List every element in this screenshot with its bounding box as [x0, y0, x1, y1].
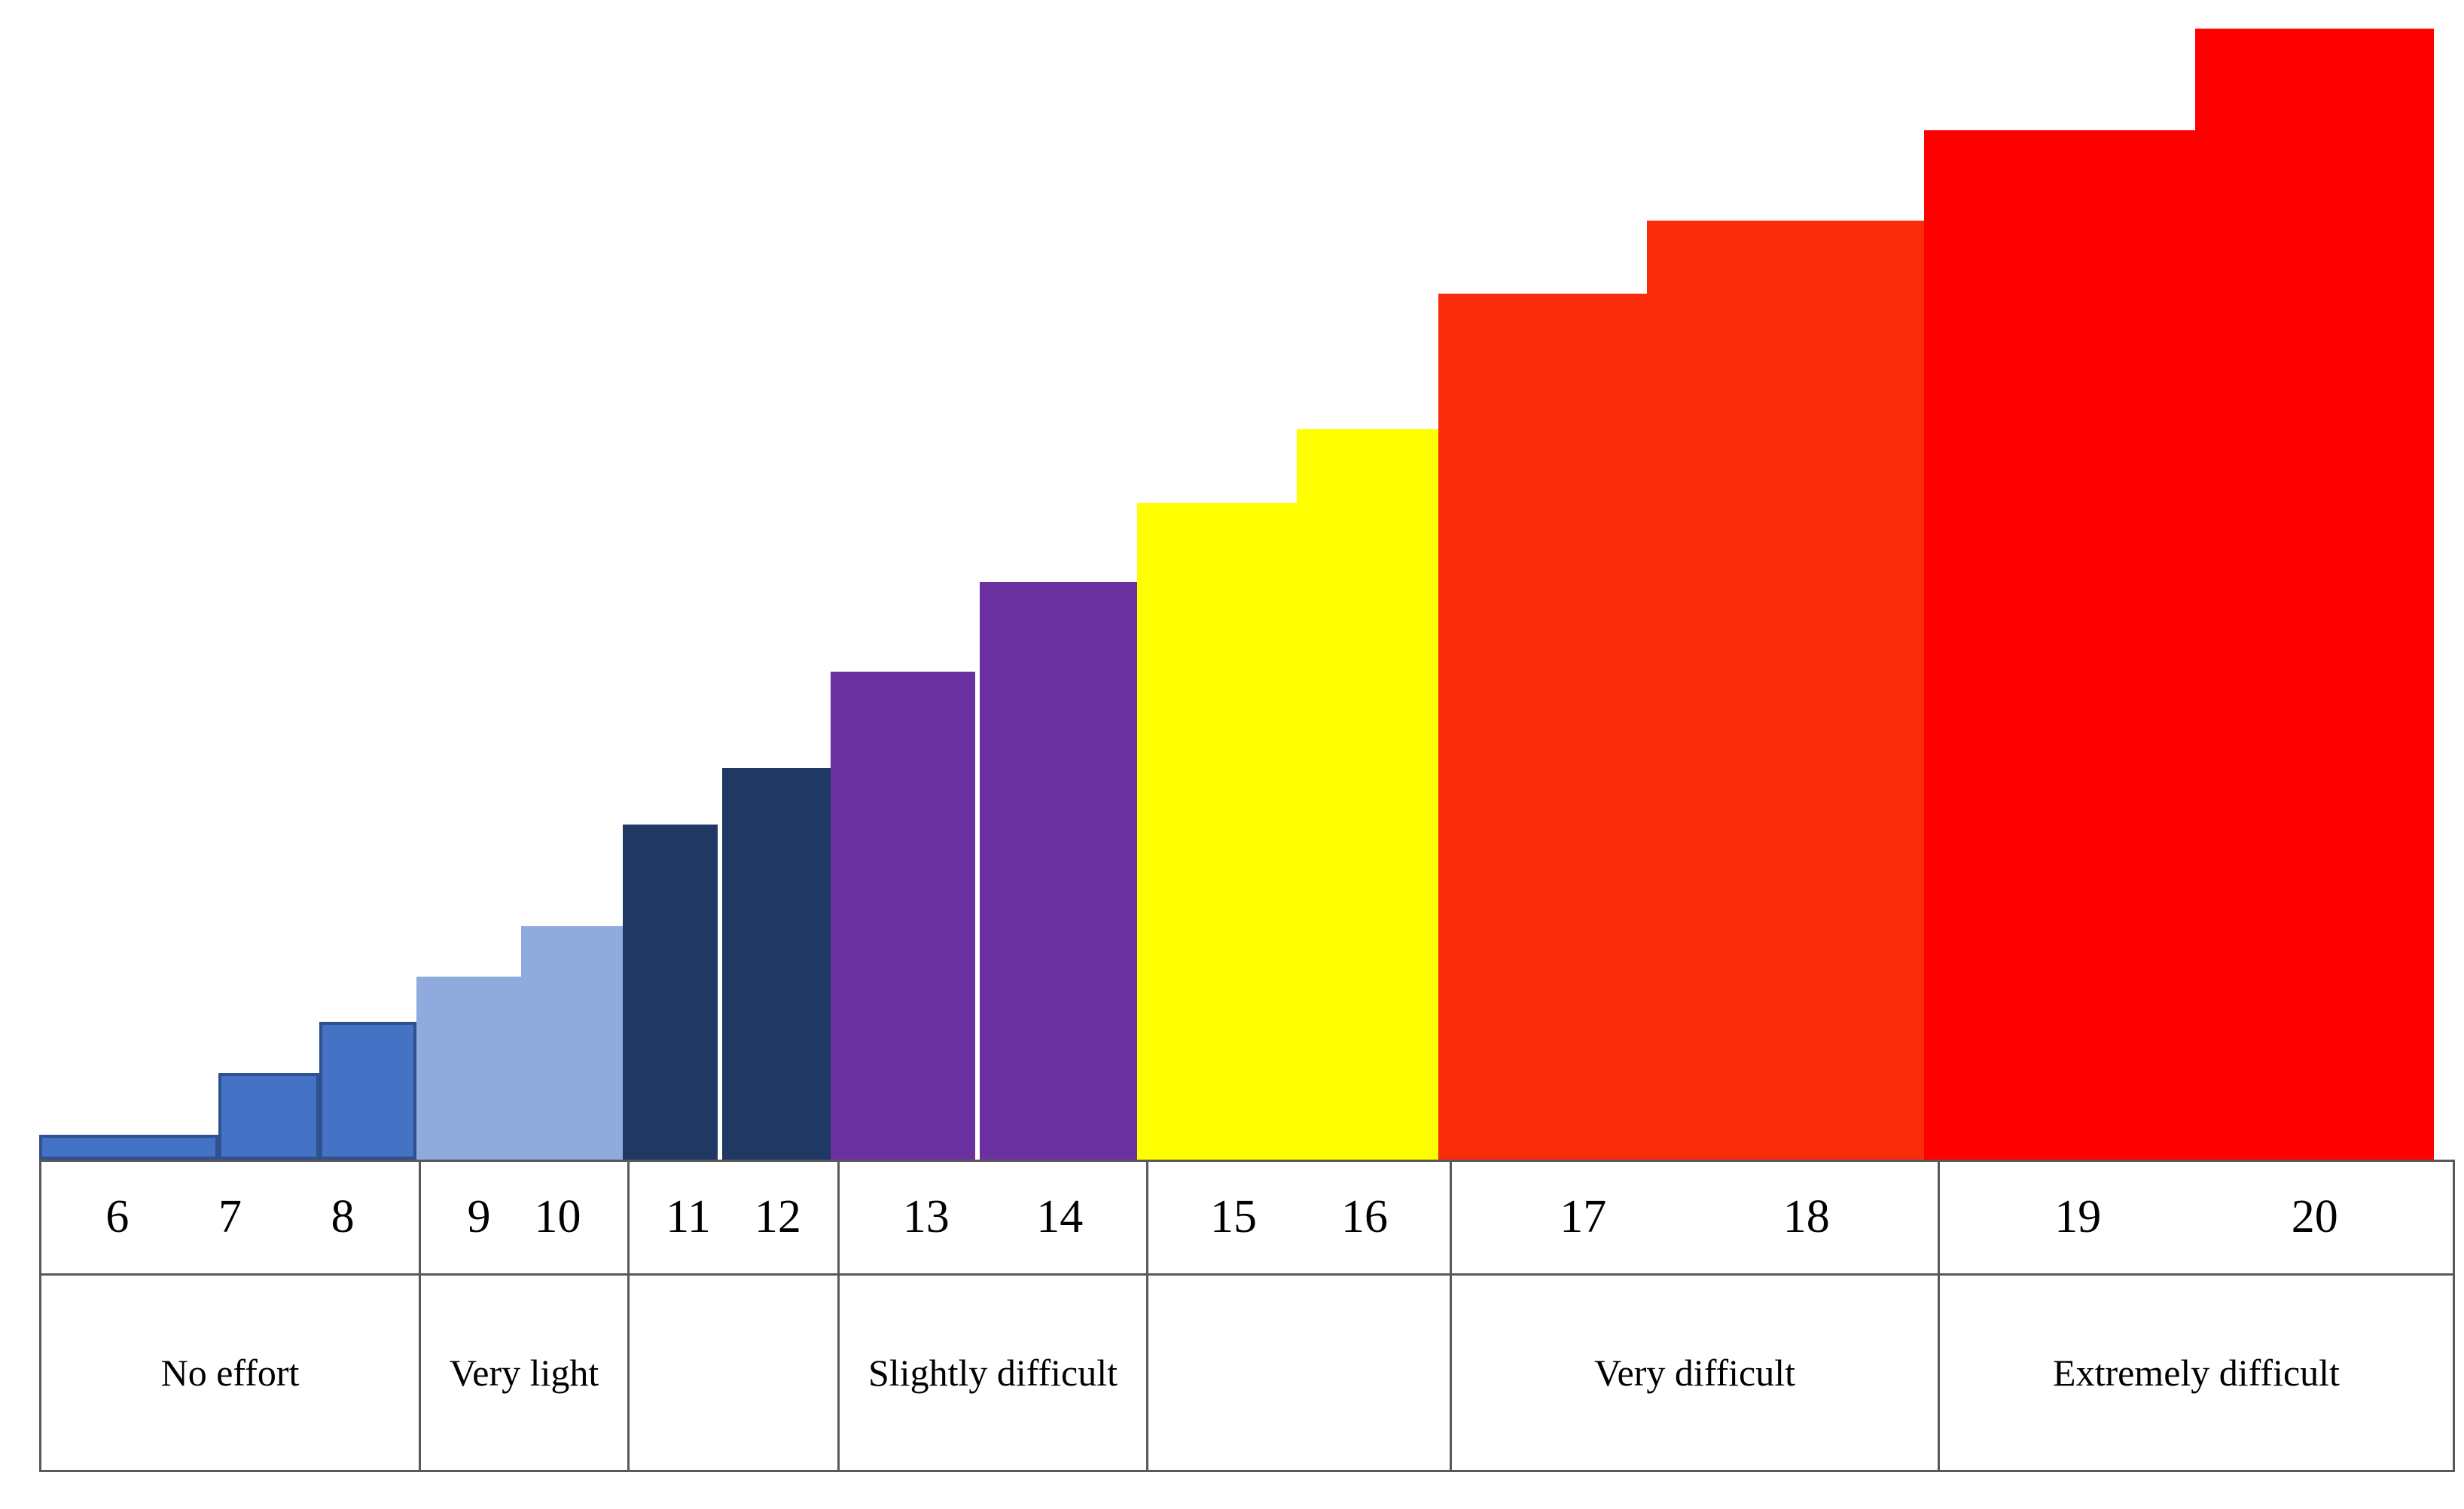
scale-numbers-row: 67891011121314151617181920: [41, 1161, 2454, 1275]
bar-7: [218, 1073, 319, 1160]
scale-label-cell-6-7-8: No effort: [41, 1275, 420, 1471]
scale-number-group: 1718: [1452, 1193, 1938, 1242]
scale-number: 11: [666, 1193, 711, 1242]
scale-labels-row: No effortVery lightSlightly difficultVer…: [41, 1275, 2454, 1471]
scale-label-cell-9-10: Very light: [420, 1275, 629, 1471]
rpe-scale-figure: 67891011121314151617181920 No effortVery…: [0, 0, 2464, 1509]
scale-number-cell-19-20: 1920: [1939, 1161, 2454, 1275]
bar-15: [1137, 503, 1297, 1160]
scale-number-cell-6-7-8: 678: [41, 1161, 420, 1275]
scale-number: 12: [755, 1193, 801, 1242]
scale-number: 15: [1210, 1193, 1257, 1242]
scale-label-cell-15-16: [1148, 1275, 1451, 1471]
scale-number: 13: [903, 1193, 950, 1242]
scale-number-cell-15-16: 1516: [1148, 1161, 1451, 1275]
scale-label-text: Very light: [450, 1352, 599, 1394]
bar-19: [1924, 130, 2195, 1160]
scale-number-group: 678: [41, 1193, 419, 1242]
scale-label-cell-17-18: Very difficult: [1451, 1275, 1939, 1471]
scale-number: 17: [1560, 1193, 1606, 1242]
scale-number-group: 1112: [630, 1193, 837, 1242]
bar-chart-plot-area: [0, 0, 2464, 1160]
scale-number: 6: [105, 1193, 129, 1242]
bar-14: [980, 582, 1137, 1160]
scale-number-cell-9-10: 910: [420, 1161, 629, 1275]
scale-number: 19: [2054, 1193, 2101, 1242]
scale-number: 9: [468, 1193, 491, 1242]
scale-number: 16: [1341, 1193, 1388, 1242]
scale-number: 8: [331, 1193, 355, 1242]
scale-number-cell-17-18: 1718: [1451, 1161, 1939, 1275]
bar-20: [2195, 29, 2434, 1160]
bar-16: [1297, 429, 1438, 1160]
bar-10: [521, 926, 623, 1160]
scale-number: 10: [535, 1193, 581, 1242]
scale-number: 14: [1036, 1193, 1083, 1242]
bar-17: [1438, 294, 1647, 1160]
bar-8: [319, 1022, 416, 1160]
scale-label-cell-11-12: [629, 1275, 839, 1471]
scale-number-group: 1314: [840, 1193, 1146, 1242]
scale-label-text: Slightly difficult: [868, 1352, 1118, 1394]
scale-label-cell-13-14: Slightly difficult: [839, 1275, 1148, 1471]
scale-number-cell-13-14: 1314: [839, 1161, 1148, 1275]
scale-label-cell-19-20: Extremely difficult: [1939, 1275, 2454, 1471]
scale-number-group: 910: [421, 1193, 627, 1242]
bar-11: [623, 825, 718, 1160]
scale-number-cell-11-12: 1112: [629, 1161, 839, 1275]
scale-number: 7: [218, 1193, 242, 1242]
scale-number-group: 1920: [1940, 1193, 2453, 1242]
scale-number-group: 1516: [1148, 1193, 1450, 1242]
scale-number: 20: [2292, 1193, 2338, 1242]
scale-label-text: No effort: [161, 1352, 300, 1394]
scale-label-text: Very difficult: [1594, 1352, 1795, 1394]
bar-18: [1647, 221, 1924, 1160]
scale-table: 67891011121314151617181920 No effortVery…: [39, 1160, 2455, 1472]
scale-number: 18: [1783, 1193, 1830, 1242]
bar-9: [416, 977, 521, 1160]
scale-label-text: Extremely difficult: [2053, 1352, 2340, 1394]
bar-6: [39, 1135, 218, 1160]
bar-12: [722, 768, 831, 1160]
bar-13: [831, 672, 975, 1160]
